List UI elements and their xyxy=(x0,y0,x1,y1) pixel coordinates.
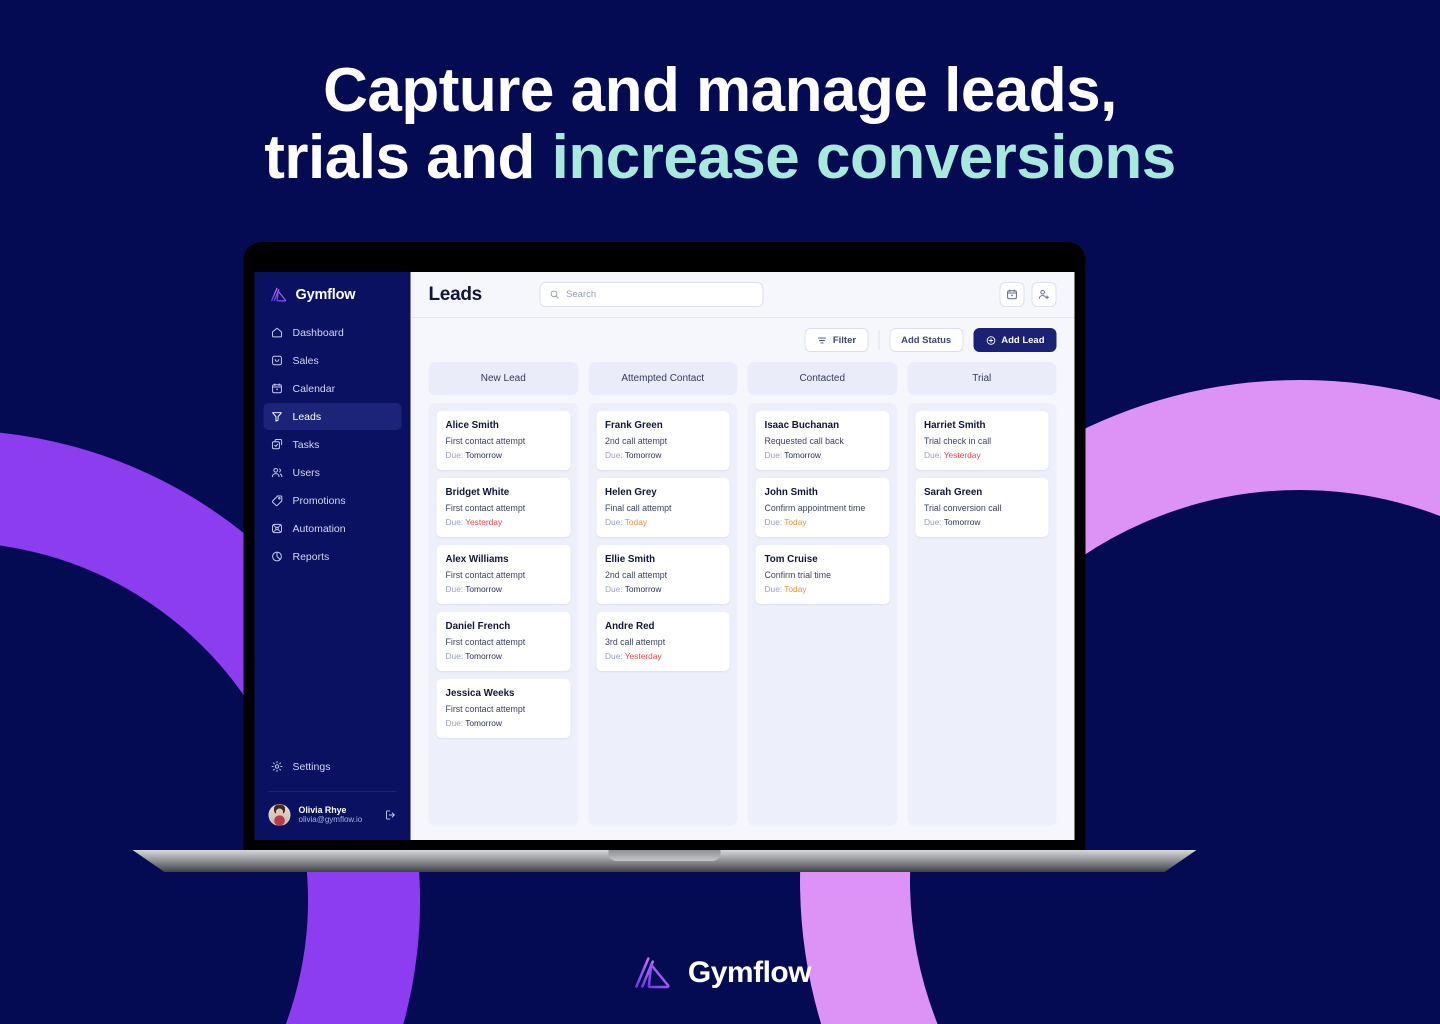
lead-card[interactable]: Jessica WeeksFirst contact attemptDue:To… xyxy=(437,679,571,738)
lead-card[interactable]: Sarah GreenTrial conversion callDue:Tomo… xyxy=(915,478,1049,537)
lead-card-due-value: Tomorrow xyxy=(465,450,502,460)
lead-card-due: Due:Tomorrow xyxy=(446,584,562,594)
lead-card-due: Due:Tomorrow xyxy=(446,450,562,460)
lead-card-due: Due:Tomorrow xyxy=(924,517,1040,527)
lead-card-name: Alex Williams xyxy=(446,554,562,565)
lead-card-due-value: Tomorrow xyxy=(465,718,502,728)
lead-card[interactable]: Tom CruiseConfirm trial timeDue:Today xyxy=(756,545,890,604)
calendar-icon xyxy=(271,382,284,395)
lead-card-due-value: Today xyxy=(784,584,806,594)
board-column-body: Frank Green2nd call attemptDue:TomorrowH… xyxy=(588,403,738,826)
users-icon xyxy=(271,466,284,479)
search-input[interactable] xyxy=(566,289,754,300)
automation-icon xyxy=(271,522,284,535)
filter-icon xyxy=(817,335,828,346)
lead-card-note: First contact attempt xyxy=(446,436,562,446)
sidebar-item-label: Promotions xyxy=(293,495,346,507)
avatar xyxy=(269,804,291,826)
lead-card-due-label: Due: xyxy=(446,718,464,728)
hero-headline-accent: increase conversions xyxy=(552,123,1176,192)
lead-card-note: First contact attempt xyxy=(446,503,562,513)
laptop-base xyxy=(133,850,1197,872)
lead-card-name: Tom Cruise xyxy=(765,554,881,565)
lead-card-due-value: Tomorrow xyxy=(944,517,981,527)
lead-card-due-label: Due: xyxy=(924,517,942,527)
lead-card[interactable]: Alex WilliamsFirst contact attemptDue:To… xyxy=(437,545,571,604)
lead-card-due-label: Due: xyxy=(446,651,464,661)
lead-card-due-value: Yesterday xyxy=(625,651,662,661)
board-column-header[interactable]: Trial xyxy=(907,362,1057,395)
logout-icon[interactable] xyxy=(385,809,397,821)
lead-card-due: Due:Today xyxy=(765,517,881,527)
laptop-notch xyxy=(609,850,721,861)
lead-card-note: 2nd call attempt xyxy=(605,436,721,446)
lead-card-note: Requested call back xyxy=(765,436,881,446)
sidebar-item-label: Sales xyxy=(293,355,319,367)
gymflow-logo-icon xyxy=(269,286,289,303)
lead-card-due-label: Due: xyxy=(765,584,783,594)
lead-card-due: Due:Yesterday xyxy=(924,450,1040,460)
add-user-button[interactable] xyxy=(1032,282,1057,307)
sidebar-item-tasks[interactable]: Tasks xyxy=(264,431,402,458)
lead-card-name: Andre Red xyxy=(605,621,721,632)
sidebar-item-reports[interactable]: Reports xyxy=(264,543,402,570)
lead-card-name: Helen Grey xyxy=(605,487,721,498)
action-bar: Filter Add Status Add Lead xyxy=(411,318,1075,362)
hero-headline-line2: trials and increase conversions xyxy=(0,125,1440,192)
lead-card-due-label: Due: xyxy=(605,450,623,460)
sidebar-user-email: olivia@gymflow.io xyxy=(299,815,377,825)
calendar-button[interactable] xyxy=(1000,282,1025,307)
sidebar-item-dashboard[interactable]: Dashboard xyxy=(264,319,402,346)
tag-icon xyxy=(271,494,284,507)
sidebar-item-automation[interactable]: Automation xyxy=(264,515,402,542)
sales-icon xyxy=(271,354,284,367)
lead-card-due-value: Yesterday xyxy=(944,450,981,460)
lead-card-due: Due:Yesterday xyxy=(605,651,721,661)
lead-card-due-value: Today xyxy=(625,517,647,527)
topbar: Leads xyxy=(411,272,1075,318)
sidebar-user-name: Olivia Rhye xyxy=(299,805,377,816)
lead-card-due: Due:Tomorrow xyxy=(605,584,721,594)
board-column: Attempted ContactFrank Green2nd call att… xyxy=(588,362,738,826)
laptop-screen-bezel: Gymflow Dashboard Sales xyxy=(244,242,1086,850)
lead-card-note: Confirm trial time xyxy=(765,570,881,580)
board-column-body: Harriet SmithTrial check in callDue:Yest… xyxy=(907,403,1057,826)
lead-card-note: First contact attempt xyxy=(446,637,562,647)
sidebar-item-calendar[interactable]: Calendar xyxy=(264,375,402,402)
lead-card-due-label: Due: xyxy=(765,450,783,460)
hero-headline: Capture and manage leads, trials and inc… xyxy=(0,58,1440,192)
lead-card-due-label: Due: xyxy=(924,450,942,460)
sidebar-item-label: Reports xyxy=(293,551,330,563)
lead-card[interactable]: Frank Green2nd call attemptDue:Tomorrow xyxy=(596,411,730,470)
lead-card[interactable]: Alice SmithFirst contact attemptDue:Tomo… xyxy=(437,411,571,470)
add-lead-button-label: Add Lead xyxy=(1001,335,1044,346)
lead-card-due-value: Yesterday xyxy=(465,517,502,527)
lead-card-name: Frank Green xyxy=(605,420,721,431)
calendar-icon xyxy=(1006,288,1019,301)
topbar-actions xyxy=(1000,282,1057,307)
chart-pie-icon xyxy=(271,550,284,563)
lead-card-due-value: Tomorrow xyxy=(784,450,821,460)
lead-card-due: Due:Tomorrow xyxy=(446,651,562,661)
lead-card-name: Alice Smith xyxy=(446,420,562,431)
lead-card-name: John Smith xyxy=(765,487,881,498)
sidebar-settings-label: Settings xyxy=(293,761,331,773)
lead-card[interactable]: Harriet SmithTrial check in callDue:Yest… xyxy=(915,411,1049,470)
board-column: New LeadAlice SmithFirst contact attempt… xyxy=(429,362,579,826)
action-separator xyxy=(878,330,879,350)
sidebar-item-label: Users xyxy=(293,467,320,479)
lead-card[interactable]: Isaac BuchananRequested call backDue:Tom… xyxy=(756,411,890,470)
lead-card[interactable]: Ellie Smith2nd call attemptDue:Tomorrow xyxy=(596,545,730,604)
lead-card-note: 2nd call attempt xyxy=(605,570,721,580)
lead-card[interactable]: Helen GreyFinal call attemptDue:Today xyxy=(596,478,730,537)
sidebar-item-label: Automation xyxy=(293,523,346,535)
sidebar-brand-label: Gymflow xyxy=(296,287,356,303)
lead-card-note: First contact attempt xyxy=(446,704,562,714)
sidebar-item-label: Leads xyxy=(293,411,322,423)
sidebar-nav: Dashboard Sales xyxy=(255,319,411,570)
footer-brand: Gymflow xyxy=(0,953,1440,992)
board-column: ContactedIsaac BuchananRequested call ba… xyxy=(748,362,898,826)
lead-card-note: 3rd call attempt xyxy=(605,637,721,647)
add-lead-button[interactable]: Add Lead xyxy=(973,328,1056,352)
lead-card-due-value: Tomorrow xyxy=(625,450,662,460)
lead-card-name: Harriet Smith xyxy=(924,420,1040,431)
lead-card-due-value: Tomorrow xyxy=(465,651,502,661)
lead-card-due-label: Due: xyxy=(446,584,464,594)
sidebar: Gymflow Dashboard Sales xyxy=(255,272,411,840)
leads-board: New LeadAlice SmithFirst contact attempt… xyxy=(411,362,1075,840)
sidebar-item-promotions[interactable]: Promotions xyxy=(264,487,402,514)
sidebar-item-label: Dashboard xyxy=(293,327,344,339)
lead-card-due-label: Due: xyxy=(765,517,783,527)
filter-button[interactable]: Filter xyxy=(805,328,868,352)
lead-card-due-value: Tomorrow xyxy=(625,584,662,594)
lead-card[interactable]: John SmithConfirm appointment timeDue:To… xyxy=(756,478,890,537)
lead-card-due-label: Due: xyxy=(605,517,623,527)
lead-card-due: Due:Tomorrow xyxy=(446,718,562,728)
page-title: Leads xyxy=(429,284,482,306)
lead-card-due-value: Tomorrow xyxy=(465,584,502,594)
search-icon xyxy=(550,289,560,300)
lead-card-note: First contact attempt xyxy=(446,570,562,580)
sidebar-item-settings[interactable]: Settings xyxy=(264,753,402,780)
lead-card[interactable]: Daniel FrenchFirst contact attemptDue:To… xyxy=(437,612,571,671)
board-column: TrialHarriet SmithTrial check in callDue… xyxy=(907,362,1057,826)
lead-card-note: Trial check in call xyxy=(924,436,1040,446)
sidebar-item-leads[interactable]: Leads xyxy=(264,403,402,430)
laptop-mockup: Gymflow Dashboard Sales xyxy=(244,242,1197,872)
sidebar-settings-row: Settings xyxy=(255,753,411,791)
lead-card-name: Ellie Smith xyxy=(605,554,721,565)
home-icon xyxy=(271,326,284,339)
main-content: Leads xyxy=(411,272,1075,840)
lead-card-due-label: Due: xyxy=(605,651,623,661)
hero-headline-line1: Capture and manage leads, xyxy=(0,58,1440,125)
board-column-body: Alice SmithFirst contact attemptDue:Tomo… xyxy=(429,403,579,826)
lead-card-due-label: Due: xyxy=(605,584,623,594)
board-column-header[interactable]: Attempted Contact xyxy=(588,362,738,395)
lead-card-due: Due:Today xyxy=(605,517,721,527)
gymflow-logo-icon xyxy=(629,953,675,992)
sidebar-item-label: Tasks xyxy=(293,439,320,451)
sidebar-spacer xyxy=(255,570,411,753)
board-column-header[interactable]: Contacted xyxy=(748,362,898,395)
add-status-button-label: Add Status xyxy=(901,335,951,346)
sidebar-item-sales[interactable]: Sales xyxy=(264,347,402,374)
footer-brand-label: Gymflow xyxy=(688,956,811,990)
lead-card-due: Due:Tomorrow xyxy=(765,450,881,460)
lead-card-due: Due:Tomorrow xyxy=(605,450,721,460)
hero-headline-plain: trials and xyxy=(264,123,551,192)
gear-icon xyxy=(271,760,284,773)
lead-card[interactable]: Andre Red3rd call attemptDue:Yesterday xyxy=(596,612,730,671)
lead-card-due: Due:Yesterday xyxy=(446,517,562,527)
sidebar-item-label: Calendar xyxy=(293,383,336,395)
lead-card-due-label: Due: xyxy=(446,450,464,460)
lead-card-note: Trial conversion call xyxy=(924,503,1040,513)
add-status-button[interactable]: Add Status xyxy=(889,328,963,352)
sidebar-brand[interactable]: Gymflow xyxy=(255,286,411,319)
tasks-icon xyxy=(271,438,284,451)
board-column-body: Isaac BuchananRequested call backDue:Tom… xyxy=(748,403,898,826)
funnel-icon xyxy=(271,410,284,423)
app-window: Gymflow Dashboard Sales xyxy=(255,272,1075,840)
lead-card-name: Isaac Buchanan xyxy=(765,420,881,431)
sidebar-item-users[interactable]: Users xyxy=(264,459,402,486)
search-field[interactable] xyxy=(540,282,764,307)
sidebar-user-row[interactable]: Olivia Rhye olivia@gymflow.io xyxy=(255,792,411,840)
lead-card-name: Daniel French xyxy=(446,621,562,632)
plus-circle-icon xyxy=(985,335,996,346)
lead-card-note: Confirm appointment time xyxy=(765,503,881,513)
lead-card-note: Final call attempt xyxy=(605,503,721,513)
sidebar-user-meta: Olivia Rhye olivia@gymflow.io xyxy=(299,805,377,826)
lead-card-due-label: Due: xyxy=(446,517,464,527)
filter-button-label: Filter xyxy=(833,335,856,346)
lead-card-name: Sarah Green xyxy=(924,487,1040,498)
lead-card-due: Due:Today xyxy=(765,584,881,594)
lead-card-due-value: Today xyxy=(784,517,806,527)
add-user-icon xyxy=(1038,288,1051,301)
lead-card[interactable]: Bridget WhiteFirst contact attemptDue:Ye… xyxy=(437,478,571,537)
lead-card-name: Jessica Weeks xyxy=(446,688,562,699)
board-column-header[interactable]: New Lead xyxy=(429,362,579,395)
lead-card-name: Bridget White xyxy=(446,487,562,498)
